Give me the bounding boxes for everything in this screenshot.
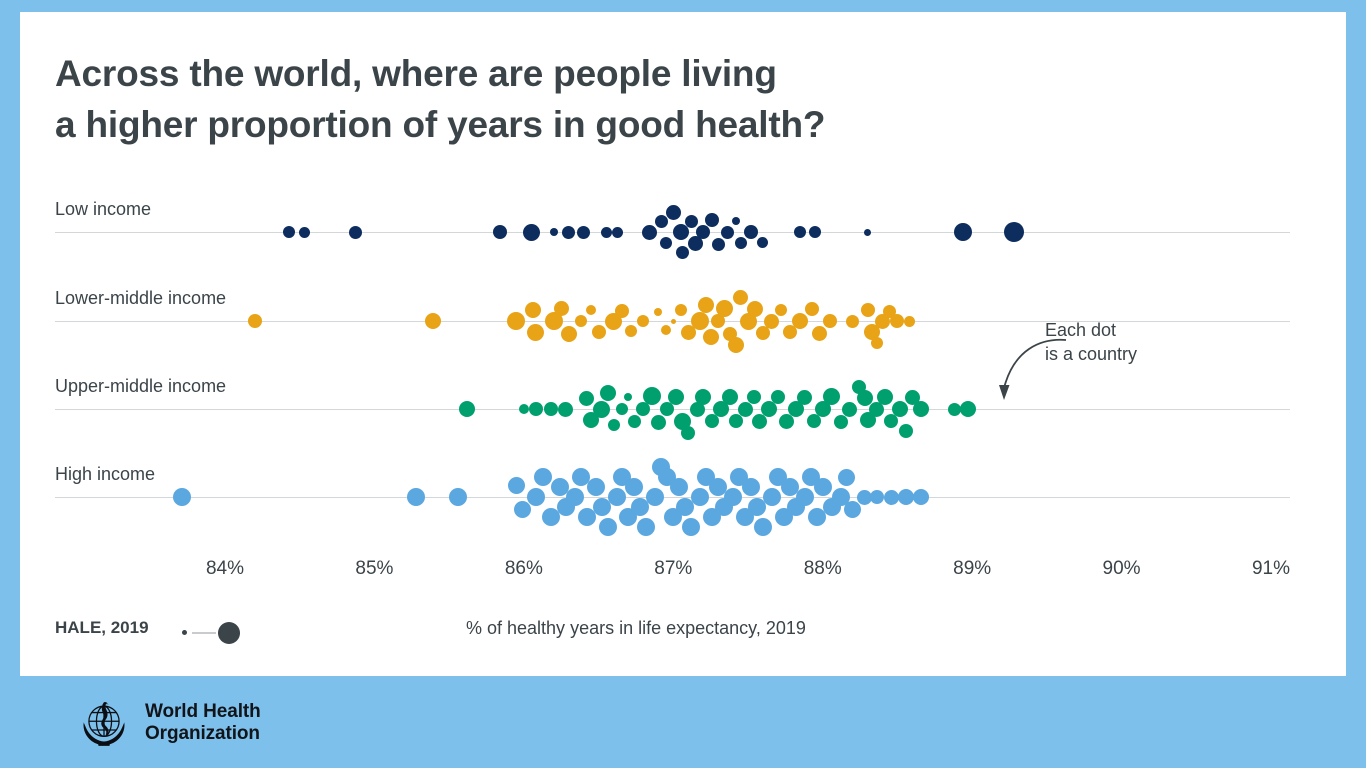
country-dot	[529, 402, 543, 416]
annotation-line-1: Each dot	[1045, 318, 1137, 342]
country-dot	[696, 225, 710, 239]
x-tick-86pct: 86%	[505, 558, 543, 580]
country-dot	[792, 313, 808, 329]
row-baseline	[55, 497, 1290, 498]
country-dot	[747, 390, 761, 404]
legend-connector-line	[192, 632, 216, 634]
country-dot	[904, 316, 915, 327]
country-dot	[575, 315, 587, 327]
country-dot	[960, 401, 976, 417]
country-dot	[870, 490, 884, 504]
country-dot	[608, 419, 620, 431]
country-dot	[738, 402, 753, 417]
country-dot	[661, 325, 671, 335]
country-dot	[561, 326, 577, 342]
x-tick-91pct: 91%	[1252, 558, 1290, 580]
country-dot	[624, 393, 632, 401]
country-dot	[642, 225, 657, 240]
country-dot	[842, 402, 857, 417]
country-dot	[577, 226, 590, 239]
country-dot	[685, 215, 698, 228]
country-dot	[913, 489, 929, 505]
country-dot	[728, 337, 744, 353]
country-dot	[587, 478, 605, 496]
country-dot	[744, 225, 758, 239]
country-dot	[698, 297, 714, 313]
country-dot	[747, 301, 763, 317]
large-dot-icon	[218, 622, 240, 644]
annotation-text: Each dot is a country	[1045, 318, 1137, 367]
country-dot	[796, 488, 814, 506]
country-dot	[586, 305, 596, 315]
country-dot	[861, 303, 875, 317]
country-dot	[655, 215, 668, 228]
country-dot	[519, 404, 529, 414]
country-dot	[593, 401, 610, 418]
country-dot	[899, 424, 913, 438]
row-label-2: Upper-middle income	[55, 376, 226, 397]
country-dot	[544, 402, 558, 416]
x-tick-85pct: 85%	[355, 558, 393, 580]
country-dot	[682, 518, 700, 536]
row-label-1: Lower-middle income	[55, 288, 226, 309]
country-dot	[625, 325, 637, 337]
country-dot	[805, 302, 819, 316]
x-axis-caption: % of healthy years in life expectancy, 2…	[466, 618, 806, 639]
country-dot	[877, 389, 893, 405]
country-dot	[764, 314, 779, 329]
country-dot	[562, 226, 575, 239]
country-dot	[722, 389, 738, 405]
country-dot	[523, 224, 540, 241]
country-dot	[838, 469, 855, 486]
country-dot	[884, 490, 899, 505]
series-3	[0, 0, 1326, 1]
country-dot	[732, 217, 740, 225]
country-dot	[554, 301, 569, 316]
country-dot	[615, 304, 629, 318]
chart-footer: HALE, 2019 % of healthy years in life ex…	[0, 612, 1326, 652]
country-dot	[705, 213, 719, 227]
country-dot	[724, 488, 742, 506]
country-dot	[628, 415, 641, 428]
country-dot	[757, 237, 768, 248]
country-dot	[670, 478, 688, 496]
country-dot	[721, 226, 734, 239]
country-dot	[871, 337, 883, 349]
country-dot	[898, 489, 914, 505]
row-label-0: Low income	[55, 199, 151, 220]
country-dot	[754, 518, 772, 536]
country-dot	[733, 290, 748, 305]
country-dot	[671, 319, 676, 324]
country-dot	[823, 388, 840, 405]
country-dot	[675, 304, 687, 316]
country-dot	[794, 226, 806, 238]
country-dot	[514, 501, 531, 518]
x-tick-87pct: 87%	[654, 558, 692, 580]
who-line-2: Organization	[145, 723, 261, 745]
country-dot	[349, 226, 362, 239]
country-dot	[625, 478, 643, 496]
country-dot	[763, 488, 781, 506]
country-dot	[954, 223, 972, 241]
country-dot	[646, 488, 664, 506]
country-dot	[637, 518, 655, 536]
country-dot	[507, 312, 525, 330]
country-dot	[729, 414, 743, 428]
country-dot	[508, 477, 525, 494]
country-dot	[913, 401, 929, 417]
dot-size-legend	[180, 620, 260, 644]
country-dot	[695, 389, 711, 405]
country-dot	[691, 488, 709, 506]
x-axis: 84%85%86%87%88%89%90%91%	[0, 558, 1326, 588]
x-tick-90pct: 90%	[1103, 558, 1141, 580]
country-dot	[299, 227, 310, 238]
country-dot	[771, 390, 785, 404]
who-line-1: World Health	[145, 701, 261, 723]
country-dot	[599, 518, 617, 536]
country-dot	[775, 304, 787, 316]
country-dot	[527, 488, 545, 506]
country-dot	[637, 315, 649, 327]
x-tick-84pct: 84%	[206, 558, 244, 580]
country-dot	[550, 228, 558, 236]
country-dot	[525, 302, 541, 318]
country-dot	[892, 401, 908, 417]
country-dot	[691, 312, 709, 330]
x-tick-88pct: 88%	[804, 558, 842, 580]
country-dot	[579, 391, 594, 406]
country-dot	[846, 315, 859, 328]
small-dot-icon	[182, 630, 187, 635]
country-dot	[173, 488, 191, 506]
country-dot	[668, 389, 684, 405]
country-dot	[712, 238, 725, 251]
country-dot	[660, 237, 672, 249]
country-dot	[742, 478, 760, 496]
country-dot	[834, 415, 848, 429]
row-label-3: High income	[55, 464, 155, 485]
country-dot	[283, 226, 295, 238]
annotation-line-2: is a country	[1045, 342, 1137, 366]
country-dot	[566, 488, 584, 506]
country-dot	[666, 205, 681, 220]
country-dot	[248, 314, 262, 328]
country-dot	[890, 314, 904, 328]
who-emblem-icon	[75, 694, 133, 752]
country-dot	[616, 403, 628, 415]
country-dot	[449, 488, 467, 506]
country-dot	[558, 402, 573, 417]
country-dot	[797, 390, 812, 405]
country-dot	[676, 246, 689, 259]
country-dot	[643, 387, 661, 405]
x-tick-89pct: 89%	[953, 558, 991, 580]
who-wordmark: World Health Organization	[145, 701, 261, 745]
country-dot	[592, 325, 606, 339]
country-dot	[608, 488, 626, 506]
country-dot	[601, 227, 612, 238]
country-dot	[654, 308, 662, 316]
who-branding: World Health Organization	[75, 694, 261, 752]
country-dot	[703, 329, 719, 345]
country-dot	[823, 314, 837, 328]
country-dot	[600, 385, 616, 401]
country-dot	[716, 300, 733, 317]
country-dot	[1004, 222, 1024, 242]
country-dot	[407, 488, 425, 506]
country-dot	[651, 415, 666, 430]
country-dot	[809, 226, 821, 238]
country-dot	[735, 237, 747, 249]
country-dot	[612, 227, 623, 238]
country-dot	[459, 401, 475, 417]
country-dot	[681, 426, 695, 440]
country-dot	[425, 313, 441, 329]
country-dot	[814, 478, 832, 496]
country-dot	[948, 403, 961, 416]
country-dot	[493, 225, 507, 239]
country-dot	[864, 229, 871, 236]
country-dot	[812, 326, 827, 341]
infographic-page: Across the world, where are people livin…	[0, 0, 1366, 768]
country-dot	[527, 324, 544, 341]
source-label: HALE, 2019	[55, 618, 149, 638]
country-dot	[534, 468, 552, 486]
